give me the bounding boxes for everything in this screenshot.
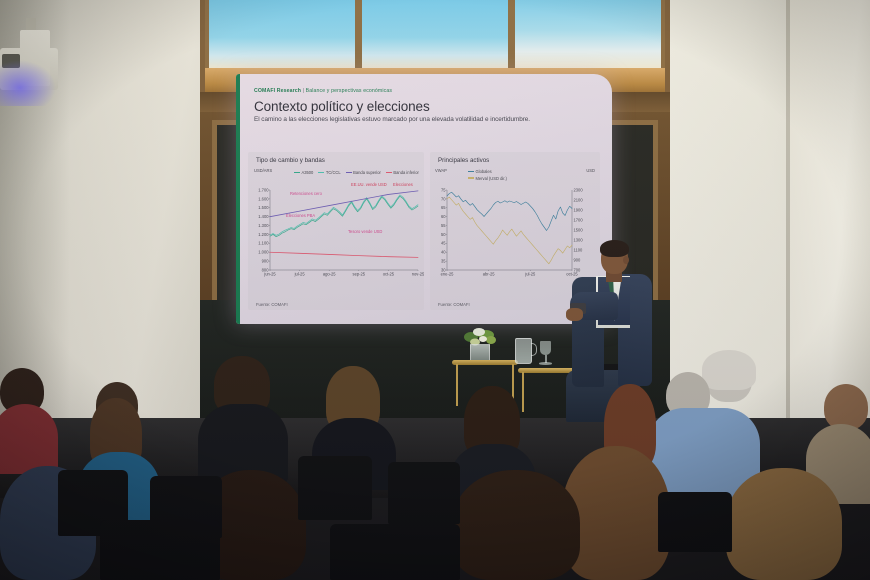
svg-text:1.700: 1.700	[258, 187, 269, 192]
speaker-hand	[566, 308, 583, 321]
panel-heading: Tipo de cambio y bandas	[256, 157, 325, 164]
chair	[388, 462, 460, 524]
annotation-elecciones-pba: Elecciones PBA	[286, 214, 315, 219]
svg-text:900: 900	[574, 257, 582, 262]
svg-text:50: 50	[441, 232, 446, 237]
panel-source: Fuente: COMAFI	[438, 302, 470, 307]
projected-slide: COMAFI Research | Balance y perspectivas…	[236, 74, 612, 324]
panel-source: Fuente: COMAFI	[256, 302, 288, 307]
window-pane	[209, 0, 355, 68]
chair	[658, 492, 732, 552]
audience-hair	[452, 470, 580, 580]
svg-text:900: 900	[262, 259, 270, 264]
chair	[100, 520, 220, 580]
svg-text:1.500: 1.500	[258, 205, 269, 210]
audience-hair	[726, 468, 842, 580]
chair	[298, 456, 372, 520]
speaker-ear	[623, 256, 629, 264]
svg-text:1.200: 1.200	[258, 232, 269, 237]
svg-text:sep-25: sep-25	[353, 272, 366, 277]
svg-text:55: 55	[441, 223, 446, 228]
svg-text:35: 35	[441, 259, 446, 264]
audience-body	[0, 404, 58, 474]
svg-text:75: 75	[441, 187, 446, 192]
annotation-elecciones: Elecciones	[393, 183, 413, 188]
svg-text:jul-25: jul-25	[294, 272, 306, 277]
chair	[330, 524, 460, 580]
panel-heading: Principales activos	[438, 157, 489, 164]
chart-svg-main-assets: 7570656055504540353023002100190017001500…	[430, 166, 600, 294]
svg-text:jul-25: jul-25	[524, 272, 536, 277]
svg-text:1.400: 1.400	[258, 214, 269, 219]
chart-main-assets: 7570656055504540353023002100190017001500…	[430, 166, 600, 294]
right-pillar-edge	[786, 0, 790, 470]
svg-text:2300: 2300	[574, 187, 584, 192]
slide-accent-bar	[236, 74, 240, 324]
svg-text:abr-25: abr-25	[483, 272, 496, 277]
vase	[470, 344, 490, 361]
audience-head	[824, 384, 868, 430]
svg-text:ago-25: ago-25	[323, 272, 336, 277]
kicker-subject: Balance y perspectivas económicas	[306, 88, 392, 94]
water-pitcher	[515, 338, 532, 364]
svg-text:1.100: 1.100	[258, 241, 269, 246]
wine-glass	[540, 341, 551, 355]
annotation-tesoro-vende-usd: Tesoro vende USD	[348, 230, 382, 235]
panel-exchange-rate: Tipo de cambio y bandas Fuente: COMAFI U…	[248, 152, 424, 310]
wine-glass-foot	[539, 362, 552, 365]
annotation-retenciones: Retenciones cero	[290, 192, 322, 197]
svg-text:65: 65	[441, 205, 446, 210]
svg-text:jun-25: jun-25	[263, 272, 276, 277]
speaker-hair	[600, 240, 629, 257]
svg-text:1.600: 1.600	[258, 196, 269, 201]
audience-hair	[702, 350, 756, 390]
svg-text:nov-25: nov-25	[412, 272, 424, 277]
slide-kicker: COMAFI Research | Balance y perspectivas…	[254, 88, 392, 94]
svg-text:oct-25: oct-25	[566, 272, 578, 277]
svg-text:45: 45	[441, 241, 446, 246]
slide-title: Contexto político y elecciones	[254, 99, 430, 114]
svg-text:70: 70	[441, 196, 446, 201]
window-pane	[515, 0, 661, 68]
svg-text:1.300: 1.300	[258, 223, 269, 228]
brand-name: COMAFI Research	[254, 88, 301, 94]
svg-text:2100: 2100	[574, 197, 584, 202]
svg-text:40: 40	[441, 250, 446, 255]
svg-text:oct-25: oct-25	[383, 272, 395, 277]
annotation-eeuu-vende-usd: EE.UU. vende USD	[351, 183, 387, 188]
svg-text:60: 60	[441, 214, 446, 219]
projector-glow	[0, 60, 56, 106]
svg-text:ene-25: ene-25	[441, 272, 454, 277]
slide-subtitle: El camino a las elecciones legislativas …	[254, 116, 530, 123]
svg-text:1900: 1900	[574, 207, 584, 212]
window-pane	[362, 0, 508, 68]
svg-text:1100: 1100	[574, 247, 584, 252]
svg-text:1300: 1300	[574, 237, 584, 242]
svg-text:1500: 1500	[574, 227, 584, 232]
presentation-scene: COMAFI Research | Balance y perspectivas…	[0, 0, 870, 580]
svg-text:1.000: 1.000	[258, 250, 269, 255]
svg-text:1700: 1700	[574, 217, 584, 222]
